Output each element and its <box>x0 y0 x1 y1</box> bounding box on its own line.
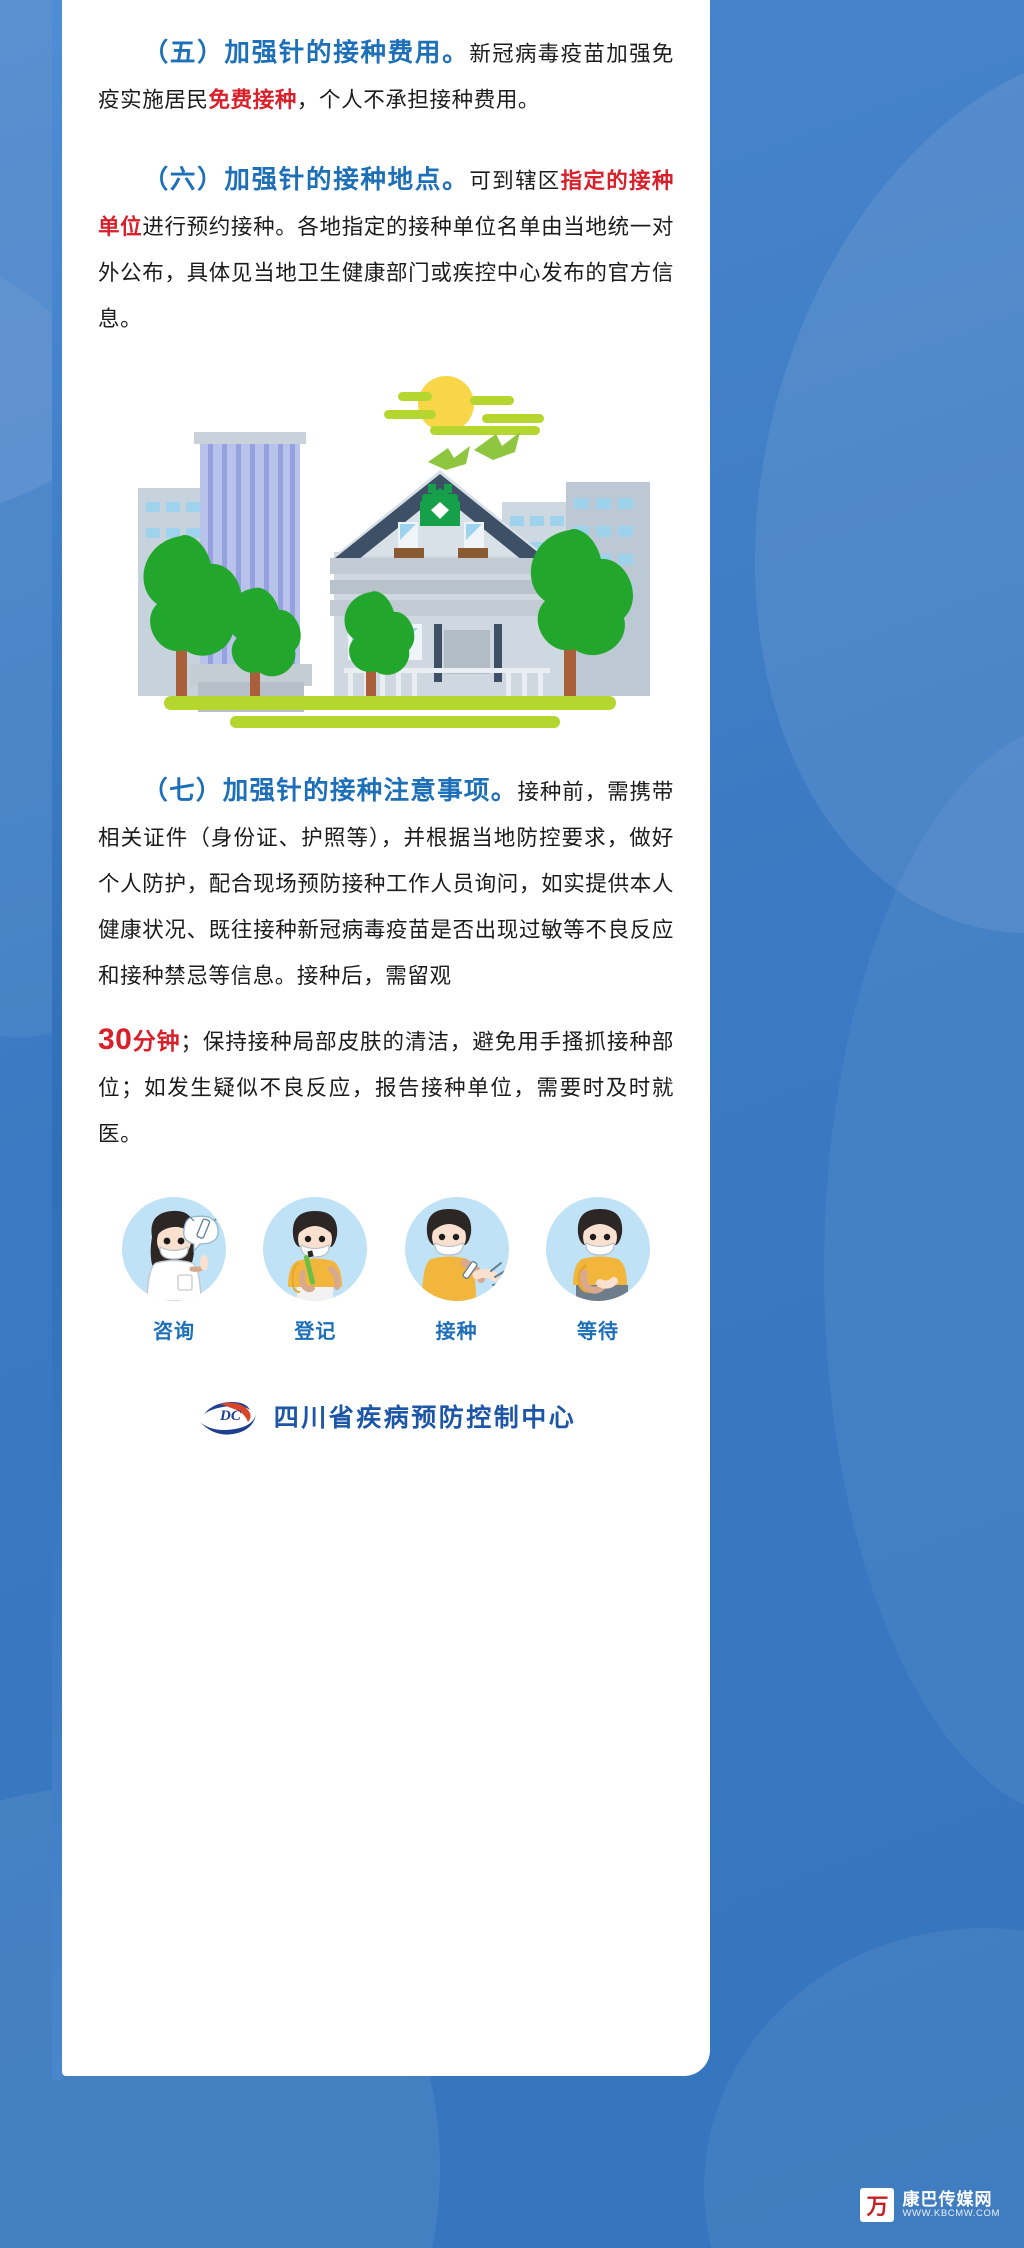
section-five-highlight: 免费接种 <box>209 88 297 112</box>
watermark-logo-icon: 万 <box>860 2188 894 2222</box>
sun-icon <box>384 376 544 435</box>
step-item: 咨询 <box>108 1197 240 1344</box>
section-seven-body-pre: 接种前，需携带相关证件（身份证、护照等），并根据当地防控要求，做好个人防护，配合… <box>98 780 674 988</box>
step-label: 接种 <box>391 1315 523 1344</box>
vaccination-steps-row: 咨询 <box>98 1197 674 1344</box>
section-five-paragraph: （五）加强针的接种费用。新冠病毒疫苗加强免疫实施居民免费接种，个人不承担接种费用… <box>98 30 674 123</box>
step-label: 登记 <box>249 1315 381 1344</box>
waiting-person-icon <box>546 1197 650 1301</box>
sichuan-cdc-logo: DC <box>196 1396 258 1436</box>
observation-minutes-number: 30 <box>98 1023 132 1056</box>
brand-footer: DC 四川省疾病预防控制中心 <box>98 1396 674 1476</box>
background-swoosh <box>824 720 1024 1820</box>
left-accent-bar <box>52 0 62 2080</box>
step-item: 等待 <box>532 1197 664 1344</box>
content-card: （五）加强针的接种费用。新冠病毒疫苗加强免疫实施居民免费接种，个人不承担接种费用… <box>62 0 710 2076</box>
brand-name: 四川省疾病预防控制中心 <box>274 1398 577 1434</box>
section-six-body-pre: 可到辖区 <box>469 169 560 193</box>
section-seven: （七）加强针的接种注意事项。接种前，需携带相关证件（身份证、护照等），并根据当地… <box>98 768 674 1157</box>
step-label: 等待 <box>532 1315 664 1344</box>
section-six: （六）加强针的接种地点。可到辖区指定的接种单位进行预约接种。各地指定的接种单位名… <box>98 157 674 342</box>
section-six-heading: （六）加强针的接种地点。 <box>142 166 469 194</box>
section-six-paragraph: （六）加强针的接种地点。可到辖区指定的接种单位进行预约接种。各地指定的接种单位名… <box>98 157 674 342</box>
section-seven-paragraph-2: 30分钟；保持接种局部皮肤的清洁，避免用手搔抓接种部位；如发生疑似不良反应，报告… <box>98 1017 674 1157</box>
section-seven-heading: （七）加强针的接种注意事项。 <box>142 777 518 805</box>
section-seven-paragraph: （七）加强针的接种注意事项。接种前，需携带相关证件（身份证、护照等），并根据当地… <box>98 768 674 999</box>
section-seven-body-post: ；保持接种局部皮肤的清洁，避免用手搔抓接种部位；如发生疑似不良反应，报告接种单位… <box>98 1030 674 1146</box>
watermark-title: 康巴传媒网 <box>902 2190 1000 2210</box>
watermark-url: WWW.KBCMW.COM <box>902 2209 1000 2220</box>
register-form-icon <box>263 1197 367 1301</box>
section-five-body-post: ，个人不承担接种费用。 <box>297 88 540 112</box>
section-five: （五）加强针的接种费用。新冠病毒疫苗加强免疫实施居民免费接种，个人不承担接种费用… <box>98 30 674 123</box>
step-item: 接种 <box>391 1197 523 1344</box>
bird-icon <box>428 432 520 470</box>
vaccination-clinic-illustration <box>98 366 674 734</box>
section-five-heading: （五）加强针的接种费用。 <box>142 39 469 67</box>
section-six-body-post: 进行预约接种。各地指定的接种单位名单由当地统一对外公布，具体见当地卫生健康部门或… <box>98 215 674 331</box>
svg-text:DC: DC <box>219 1408 242 1424</box>
observation-minutes-unit: 分钟 <box>132 1028 180 1054</box>
site-watermark: 万 康巴传媒网 WWW.KBCMW.COM <box>860 2188 1000 2222</box>
consult-doctor-icon <box>122 1197 226 1301</box>
step-label: 咨询 <box>108 1315 240 1344</box>
step-item: 登记 <box>249 1197 381 1344</box>
injection-arm-icon <box>405 1197 509 1301</box>
